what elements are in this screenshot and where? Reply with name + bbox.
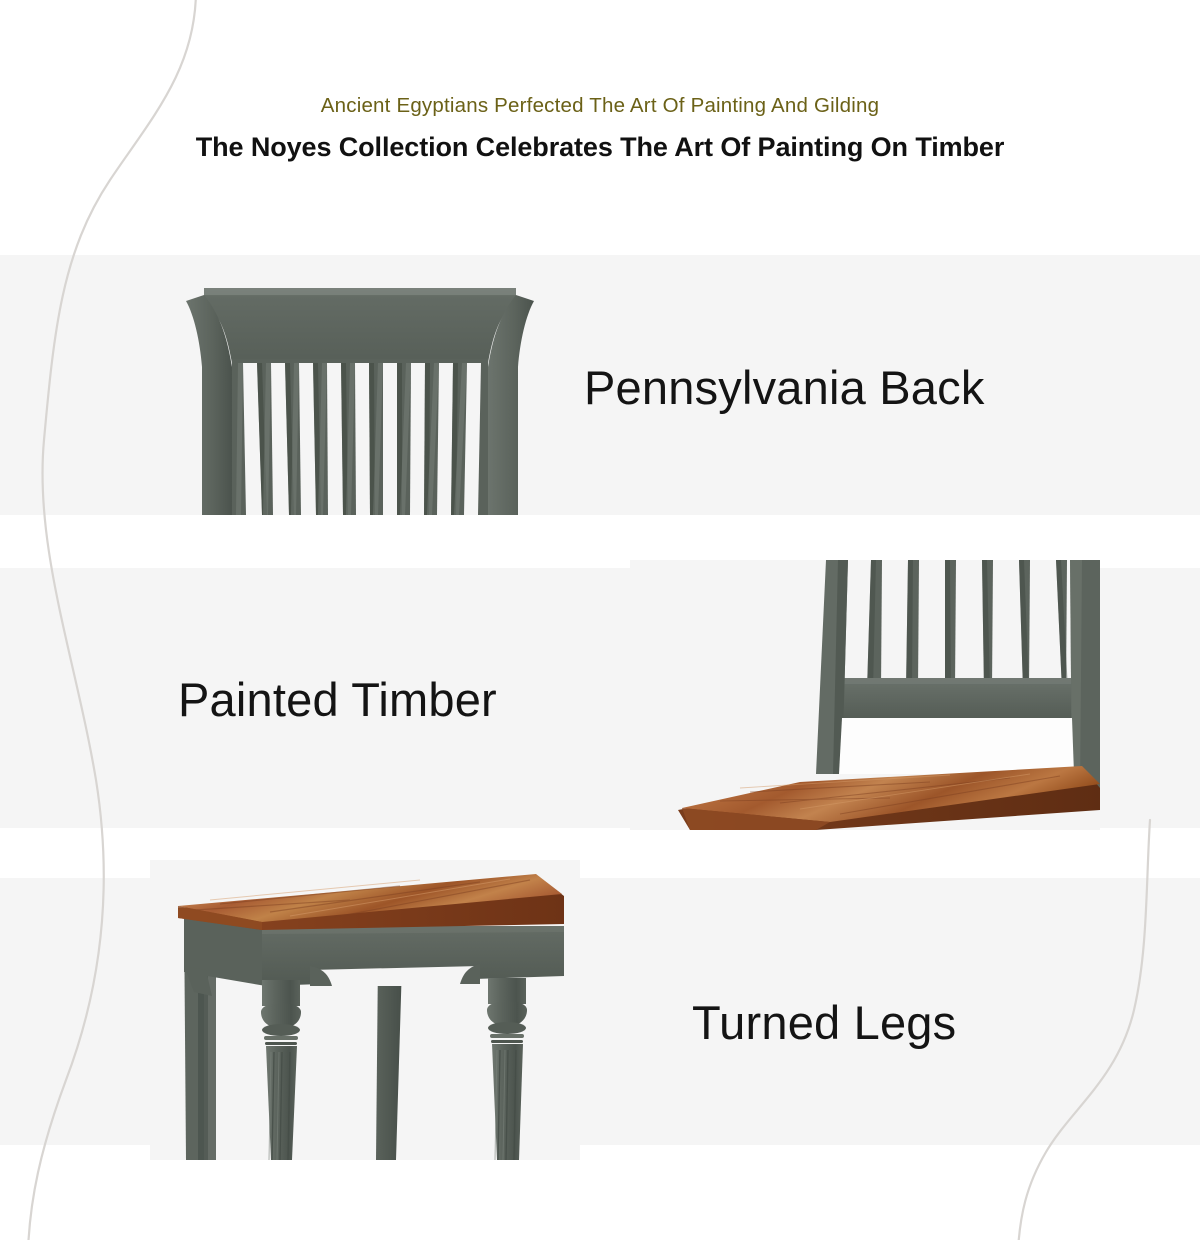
- feature-label-turned-legs: Turned Legs: [692, 995, 956, 1050]
- chair-slat-gaps: [243, 363, 481, 515]
- feature-label-pennsylvania-back: Pennsylvania Back: [584, 360, 985, 415]
- image-pennsylvania-back: [180, 255, 540, 515]
- image-painted-timber: [630, 560, 1100, 830]
- header: Ancient Egyptians Perfected The Art Of P…: [0, 0, 1200, 255]
- feature-label-painted-timber: Painted Timber: [178, 672, 497, 727]
- eyebrow-text: Ancient Egyptians Perfected The Art Of P…: [0, 94, 1200, 118]
- image-turned-legs: [150, 860, 580, 1160]
- infographic-page: Ancient Egyptians Perfected The Art Of P…: [0, 0, 1200, 1240]
- chair-crest-rail: [204, 288, 516, 363]
- page-title: The Noyes Collection Celebrates The Art …: [0, 132, 1200, 163]
